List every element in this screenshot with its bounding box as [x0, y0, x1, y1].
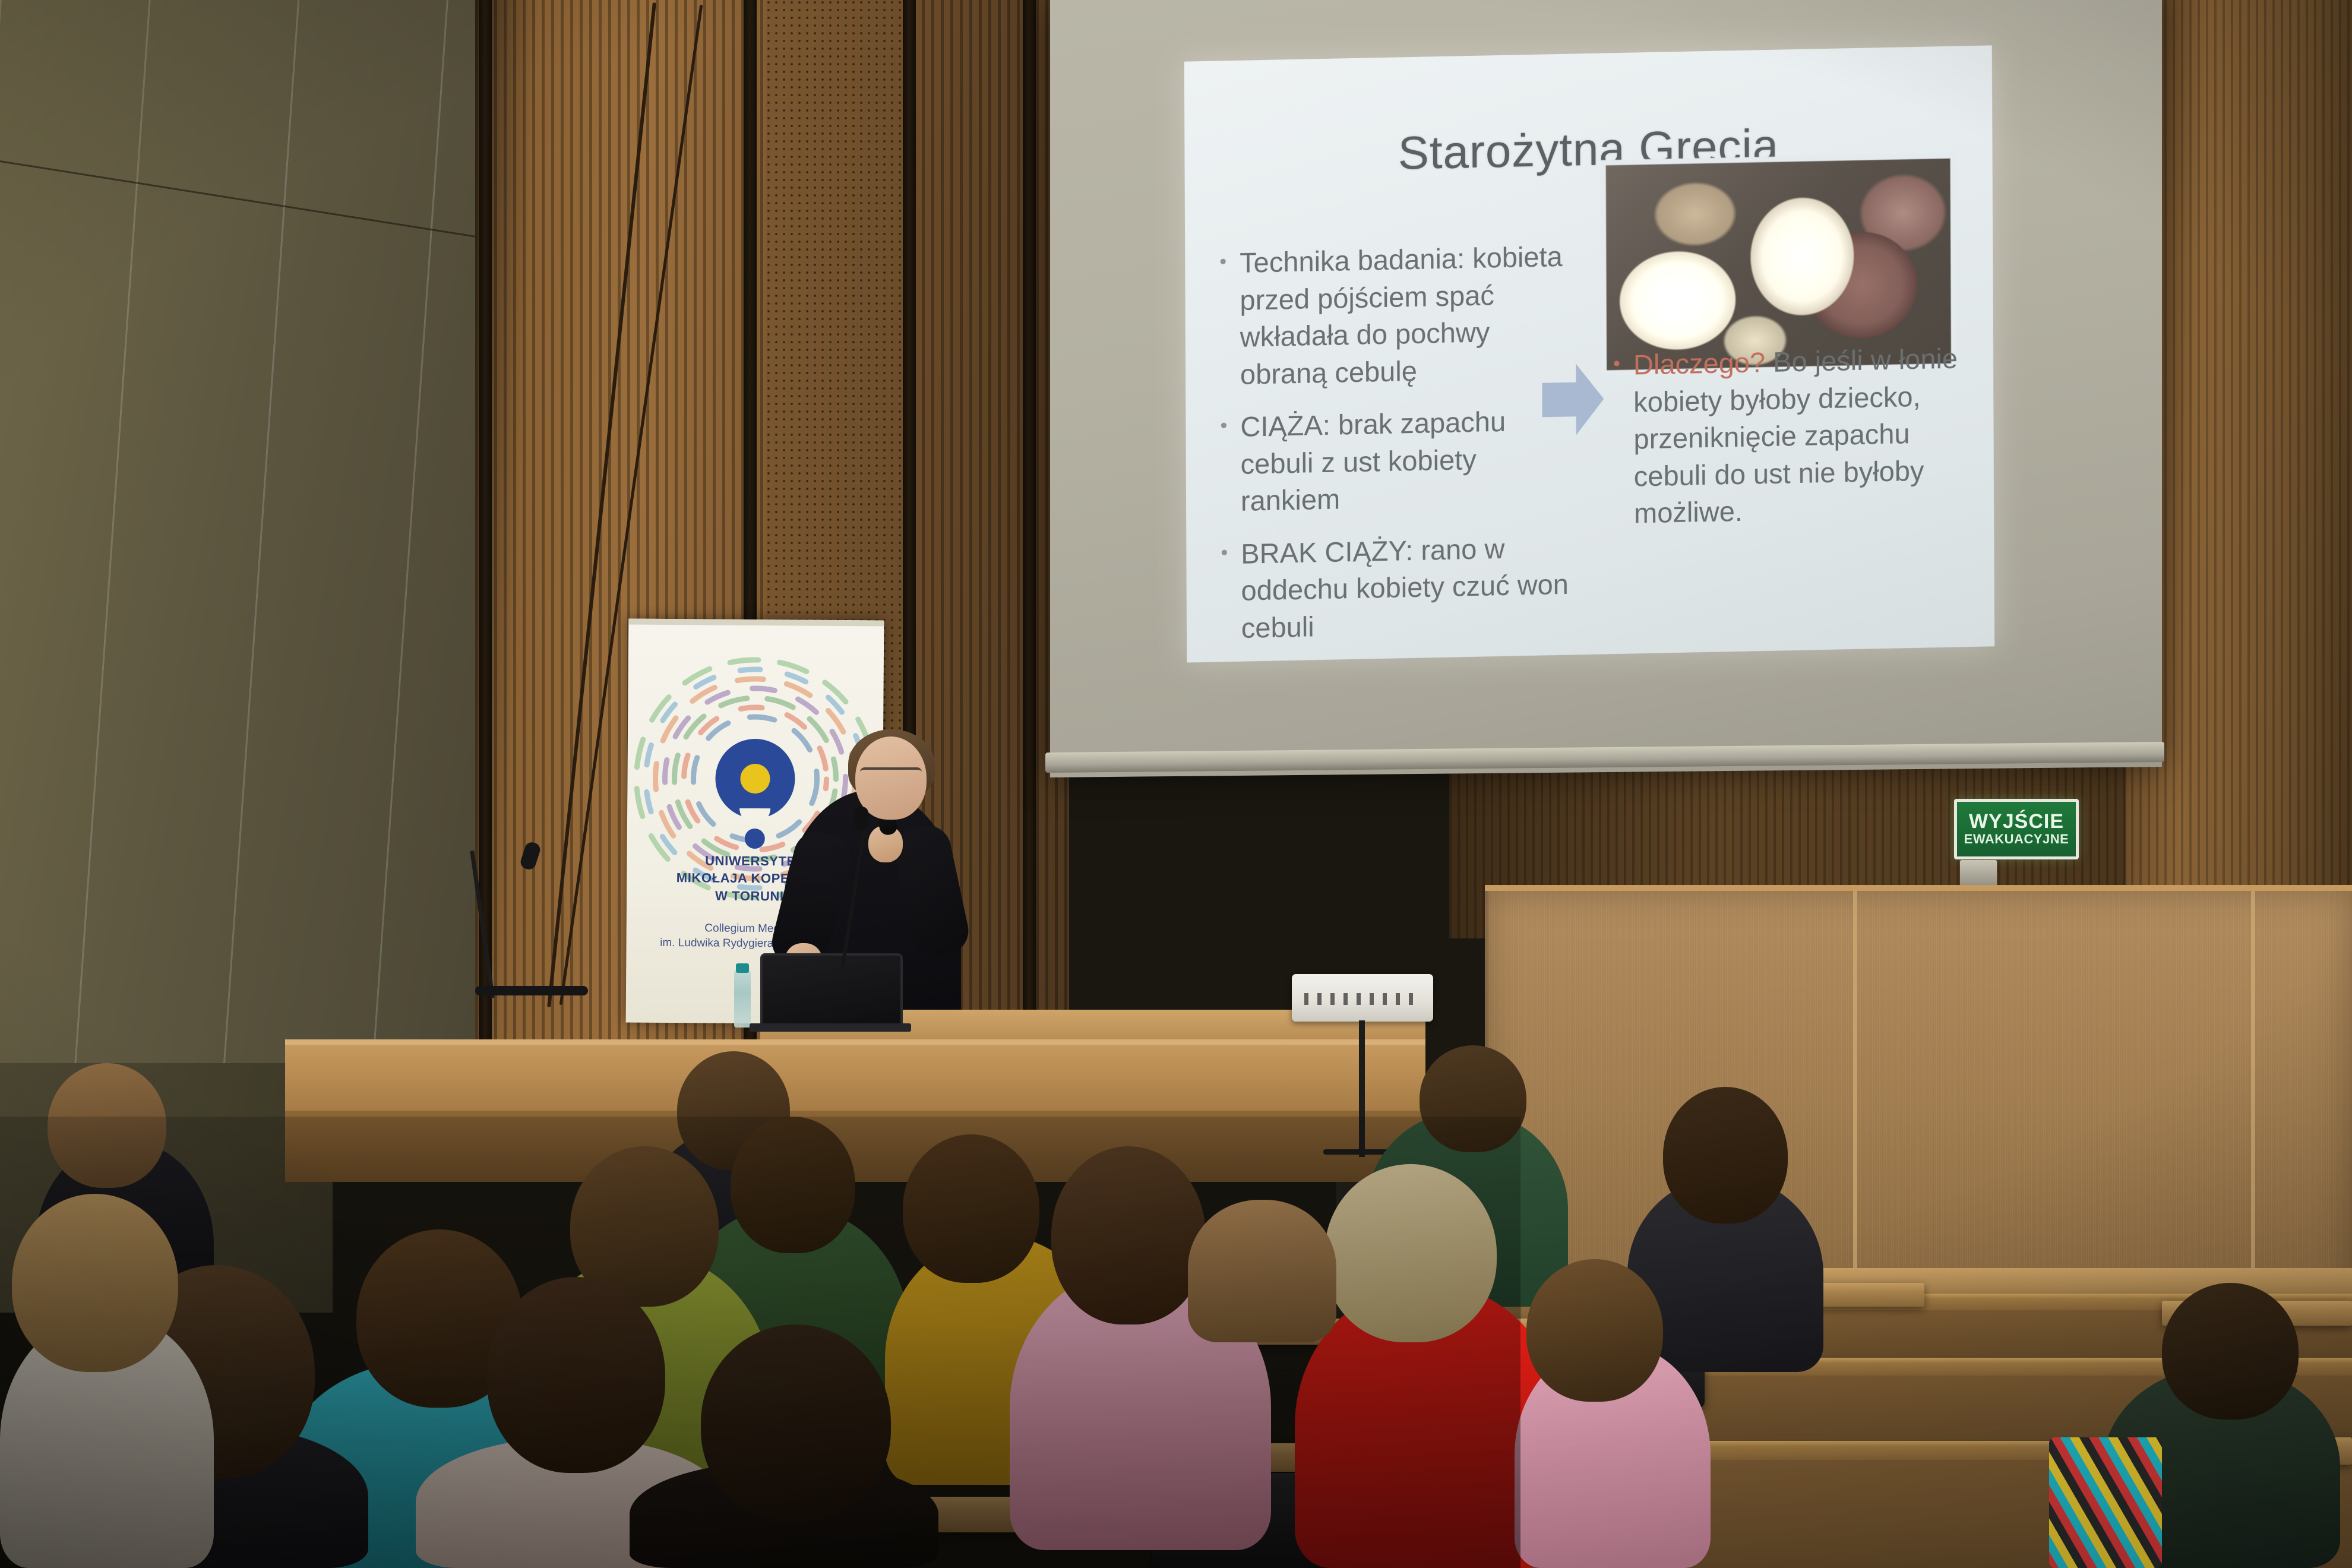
bullet-text: Technika badania: kobieta przed pójściem…	[1240, 238, 1582, 393]
bag-pattern	[2049, 1437, 2162, 1568]
slide-explanation-block: • Dlaczego? Bo jeśli w łonie kobiety był…	[1613, 340, 1958, 548]
exit-sign-line1: WYJŚCIE	[1969, 811, 2064, 832]
list-item: • Dlaczego? Bo jeśli w łonie kobiety był…	[1613, 340, 1958, 533]
lecture-hall-scene: Starożytna Grecja • Technika badania: ko…	[0, 0, 2352, 1568]
podium	[1485, 885, 2352, 1307]
umk-logo-core-icon	[715, 739, 795, 819]
audience-head	[1324, 1164, 1497, 1342]
stage-desk-front-panel	[285, 1111, 1425, 1182]
podium-seam	[2251, 891, 2255, 1307]
umk-logo-dot-icon	[745, 829, 765, 849]
laptop[interactable]	[760, 953, 903, 1029]
presentation-slide: Starożytna Grecja • Technika badania: ko…	[1184, 45, 1994, 662]
bullet-dot-icon: •	[1220, 409, 1228, 520]
banner-top-rail	[628, 619, 884, 627]
laptop-base	[750, 1023, 911, 1032]
audience-head	[1051, 1146, 1206, 1324]
audience-head	[1663, 1087, 1788, 1224]
emergency-exit-sign: WYJŚCIE EWAKUACYJNE	[1954, 799, 2079, 859]
audience-head	[903, 1134, 1039, 1283]
fur-collar	[1188, 1200, 1336, 1342]
slide-bullet-list: • Technika badania: kobieta przed pójści…	[1219, 238, 1583, 662]
list-item: • BRAK CIĄŻY: rano w oddechu kobiety czu…	[1221, 529, 1583, 647]
bullet-dot-icon: •	[1219, 245, 1227, 393]
bullet-dot-icon: •	[1613, 347, 1621, 533]
wall-seam	[1023, 0, 1036, 1081]
list-item: • CIĄŻA: brak zapachu cebuli z ust kobie…	[1220, 402, 1583, 520]
audience-head	[48, 1063, 166, 1188]
left-wall-panel	[0, 0, 487, 1069]
glasses-icon	[860, 767, 922, 779]
microphone-capsule-icon[interactable]	[854, 807, 868, 830]
bullet-dot-icon: •	[1221, 536, 1228, 647]
list-item: • Technika badania: kobieta przed pójści…	[1219, 238, 1582, 393]
explanation-text: Dlaczego? Bo jeśli w łonie kobiety byłob…	[1633, 340, 1958, 532]
bullet-text: CIĄŻA: brak zapachu cebuli z ust kobiety…	[1240, 402, 1583, 520]
audience-head	[12, 1194, 178, 1372]
podium-seam	[1853, 891, 1857, 1307]
exit-sign-line2: EWAKUACYJNE	[1964, 832, 2069, 846]
audience-head	[487, 1277, 665, 1473]
audience-head	[701, 1324, 891, 1520]
water-bottle-cap	[736, 963, 749, 973]
audience-head	[1526, 1259, 1663, 1402]
explanation-lead: Dlaczego?	[1633, 346, 1765, 380]
projector-port-panel	[1304, 993, 1417, 1005]
audience-head	[731, 1117, 855, 1253]
bullet-text: BRAK CIĄŻY: rano w oddechu kobiety czuć …	[1241, 529, 1583, 647]
projector-stand-pole	[1359, 1020, 1365, 1157]
audience-head	[1420, 1045, 1526, 1152]
microphone-stand-base	[475, 986, 588, 995]
audience-head	[2162, 1283, 2299, 1420]
wall-fixture-box	[1960, 860, 1997, 889]
water-bottle[interactable]	[734, 969, 751, 1028]
